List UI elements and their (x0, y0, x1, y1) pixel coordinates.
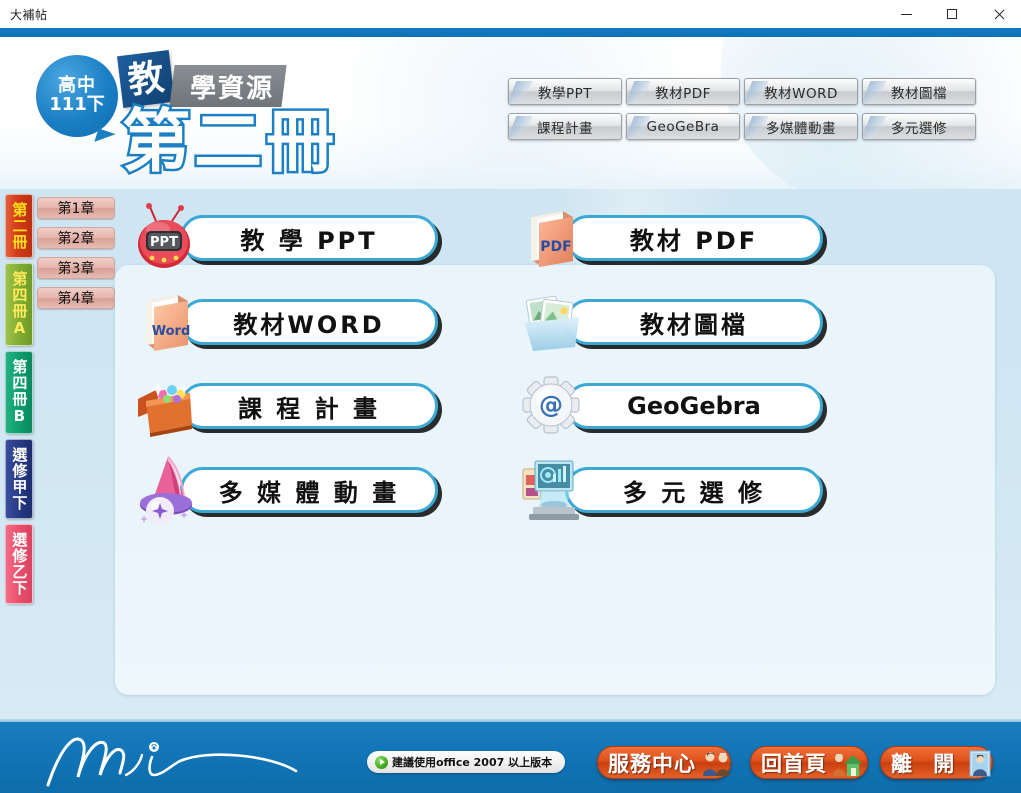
magic-hat-icon (132, 453, 206, 527)
logo-subtitle: 學資源 (190, 68, 274, 105)
volume-tab-label: 選修甲下 (11, 447, 28, 511)
quick-button-label: 多媒體動畫 (766, 117, 836, 137)
slant-shine-icon (626, 81, 650, 103)
home-button[interactable]: 回首頁 (750, 746, 868, 779)
nani-brand-logo: ✿ (30, 727, 330, 789)
quick-button-label: 多元選修 (891, 117, 947, 137)
image-tray-icon (517, 285, 591, 359)
service-center-button[interactable]: 服務中心 (597, 746, 731, 779)
minimize-icon (901, 14, 912, 15)
volume-tab-label: 第四冊A (11, 271, 28, 338)
app-header: 高中 111下 教 學資源 第二冊 教學PPT 教材PDF 教材WORD 教材圖… (0, 37, 1021, 189)
window-title-bar: 大補帖 (0, 0, 1021, 28)
exit-button[interactable]: 離 開 (880, 746, 993, 779)
volume-tab-elective-b[interactable]: 選修乙下 (5, 524, 33, 604)
volume-tab-vol2[interactable]: 第二冊 (5, 194, 33, 258)
volume-tab-strip: 第二冊 第四冊A 第四冊B 選修甲下 選修乙下 (5, 194, 35, 609)
quick-button-label: GeoGeBra (647, 119, 720, 135)
pdf-folder-icon: PDF (517, 201, 591, 275)
quick-button-label: 課程計畫 (537, 117, 593, 137)
svg-text:@: @ (539, 391, 563, 419)
jiao-badge: 教 (117, 50, 175, 108)
main-menu-grid: PPT 教 學 PPT (132, 197, 852, 617)
office-version-text: 建議使用office 2007 以上版本 (392, 754, 552, 770)
menu-button-label: 教材 PDF (630, 221, 758, 256)
quick-button-pdf[interactable]: 教材PDF (626, 78, 740, 105)
quick-button-geogebra[interactable]: GeoGeBra (626, 113, 740, 140)
volume-tab-vol4a[interactable]: 第四冊A (5, 263, 33, 346)
gear-at-icon: @ (517, 369, 591, 443)
slant-shine-icon (744, 116, 768, 138)
hologram-pc-icon (517, 453, 591, 527)
menu-button-pill: 教材圖檔 (565, 299, 823, 345)
minimize-button[interactable] (883, 0, 929, 28)
quick-button-label: 教材圖檔 (891, 82, 947, 102)
quick-button-label: 教材WORD (764, 82, 838, 102)
quick-button-ppt[interactable]: 教學PPT (508, 78, 622, 105)
menu-button-label: 教材WORD (233, 305, 384, 340)
app-logo: 高中 111下 教 學資源 第二冊 (22, 47, 322, 187)
service-center-label: 服務中心 (608, 748, 696, 778)
close-button[interactable] (975, 0, 1021, 28)
volume-tab-vol4b[interactable]: 第四冊B (5, 351, 33, 434)
menu-button-geogebra[interactable]: @ GeoGebra (517, 365, 850, 449)
menu-button-teaching-ppt[interactable]: PPT 教 學 PPT (132, 197, 465, 281)
menu-button-multi-elective[interactable]: 多 元 選 修 (517, 449, 850, 533)
chapter-button-2[interactable]: 第2章 (37, 227, 115, 249)
chapter-list: 第1章 第2章 第3章 第4章 (37, 197, 115, 317)
quick-button-label: 教材PDF (655, 82, 711, 102)
menu-button-pill: GeoGebra (565, 383, 823, 429)
menu-button-pill: 教材 PDF (565, 215, 823, 261)
chapter-button-1[interactable]: 第1章 (37, 197, 115, 219)
quick-button-animation[interactable]: 多媒體動畫 (744, 113, 858, 140)
office-version-note: 建議使用office 2007 以上版本 (367, 751, 565, 773)
maximize-button[interactable] (929, 0, 975, 28)
quick-button-syllabus[interactable]: 課程計畫 (508, 113, 622, 140)
app-body: 第二冊 第四冊A 第四冊B 選修甲下 選修乙下 第1章 第2章 第3章 第4章 (0, 189, 1021, 719)
volume-tab-label: 第四冊B (11, 359, 28, 426)
svg-text:PDF: PDF (540, 239, 571, 255)
menu-button-pill: 教材WORD (180, 299, 438, 345)
menu-button-multimedia-animation[interactable]: 多 媒 體 動 畫 (132, 449, 465, 533)
window-controls (883, 0, 1021, 28)
svg-text:PPT: PPT (150, 235, 178, 250)
title-accent-strip (0, 28, 1021, 37)
quick-button-elective[interactable]: 多元選修 (862, 113, 976, 140)
slant-shine-icon (508, 116, 532, 138)
quick-button-label: 教學PPT (538, 82, 592, 102)
word-folder-icon: Word (132, 285, 206, 359)
slant-shine-icon (862, 81, 886, 103)
menu-button-label: GeoGebra (627, 392, 761, 420)
volume-tab-label: 第二冊 (11, 202, 28, 250)
menu-button-textbook-word[interactable]: Word 教材WORD (132, 281, 465, 365)
volume-title: 第二冊 (122, 109, 338, 177)
menu-button-label: 教材圖檔 (640, 305, 748, 340)
logo-subtitle-bar: 學資源 (169, 65, 286, 107)
quick-button-word[interactable]: 教材WORD (744, 78, 858, 105)
chapter-button-3[interactable]: 第3章 (37, 257, 115, 279)
green-play-icon (375, 756, 388, 769)
volume-tab-label: 選修乙下 (11, 532, 28, 596)
exit-door-icon (966, 749, 996, 777)
volume-tab-elective-a[interactable]: 選修甲下 (5, 439, 33, 519)
chapter-button-4[interactable]: 第4章 (37, 287, 115, 309)
ppt-tv-icon: PPT (132, 201, 206, 275)
maximize-icon (947, 9, 957, 19)
menu-button-course-plan[interactable]: 課 程 計 畫 (132, 365, 465, 449)
menu-button-textbook-pdf[interactable]: PDF 教材 PDF (517, 197, 850, 281)
menu-button-label: 多 元 選 修 (623, 473, 765, 508)
menu-button-pill: 教 學 PPT (180, 215, 438, 261)
treasure-box-icon (132, 369, 206, 443)
menu-button-label: 多 媒 體 動 畫 (219, 473, 399, 508)
semester-label: 111下 (49, 96, 105, 115)
slant-shine-icon (508, 81, 532, 103)
window-title: 大補帖 (0, 6, 48, 23)
grade-bubble: 高中 111下 (36, 55, 118, 137)
quick-access-bar: 教學PPT 教材PDF 教材WORD 教材圖檔 課程計畫 GeoGeBra 多媒… (508, 78, 998, 140)
svg-text:Word: Word (152, 324, 191, 339)
service-people-icon (701, 749, 731, 777)
menu-button-pill: 課 程 計 畫 (180, 383, 438, 429)
menu-button-pill: 多 元 選 修 (565, 467, 823, 513)
menu-button-textbook-images[interactable]: 教材圖檔 (517, 281, 850, 365)
menu-button-label: 教 學 PPT (240, 221, 377, 256)
jiao-character: 教 (126, 59, 166, 99)
menu-button-label: 課 程 計 畫 (238, 389, 380, 424)
home-button-label: 回首頁 (761, 748, 827, 778)
footer-top-edge (0, 719, 1021, 722)
slant-shine-icon (862, 116, 886, 138)
exit-button-label: 離 開 (891, 748, 961, 778)
home-house-icon (832, 749, 862, 777)
close-icon (993, 9, 1004, 20)
menu-button-pill: 多 媒 體 動 畫 (180, 467, 438, 513)
quick-button-images[interactable]: 教材圖檔 (862, 78, 976, 105)
svg-text:✿: ✿ (150, 744, 158, 754)
